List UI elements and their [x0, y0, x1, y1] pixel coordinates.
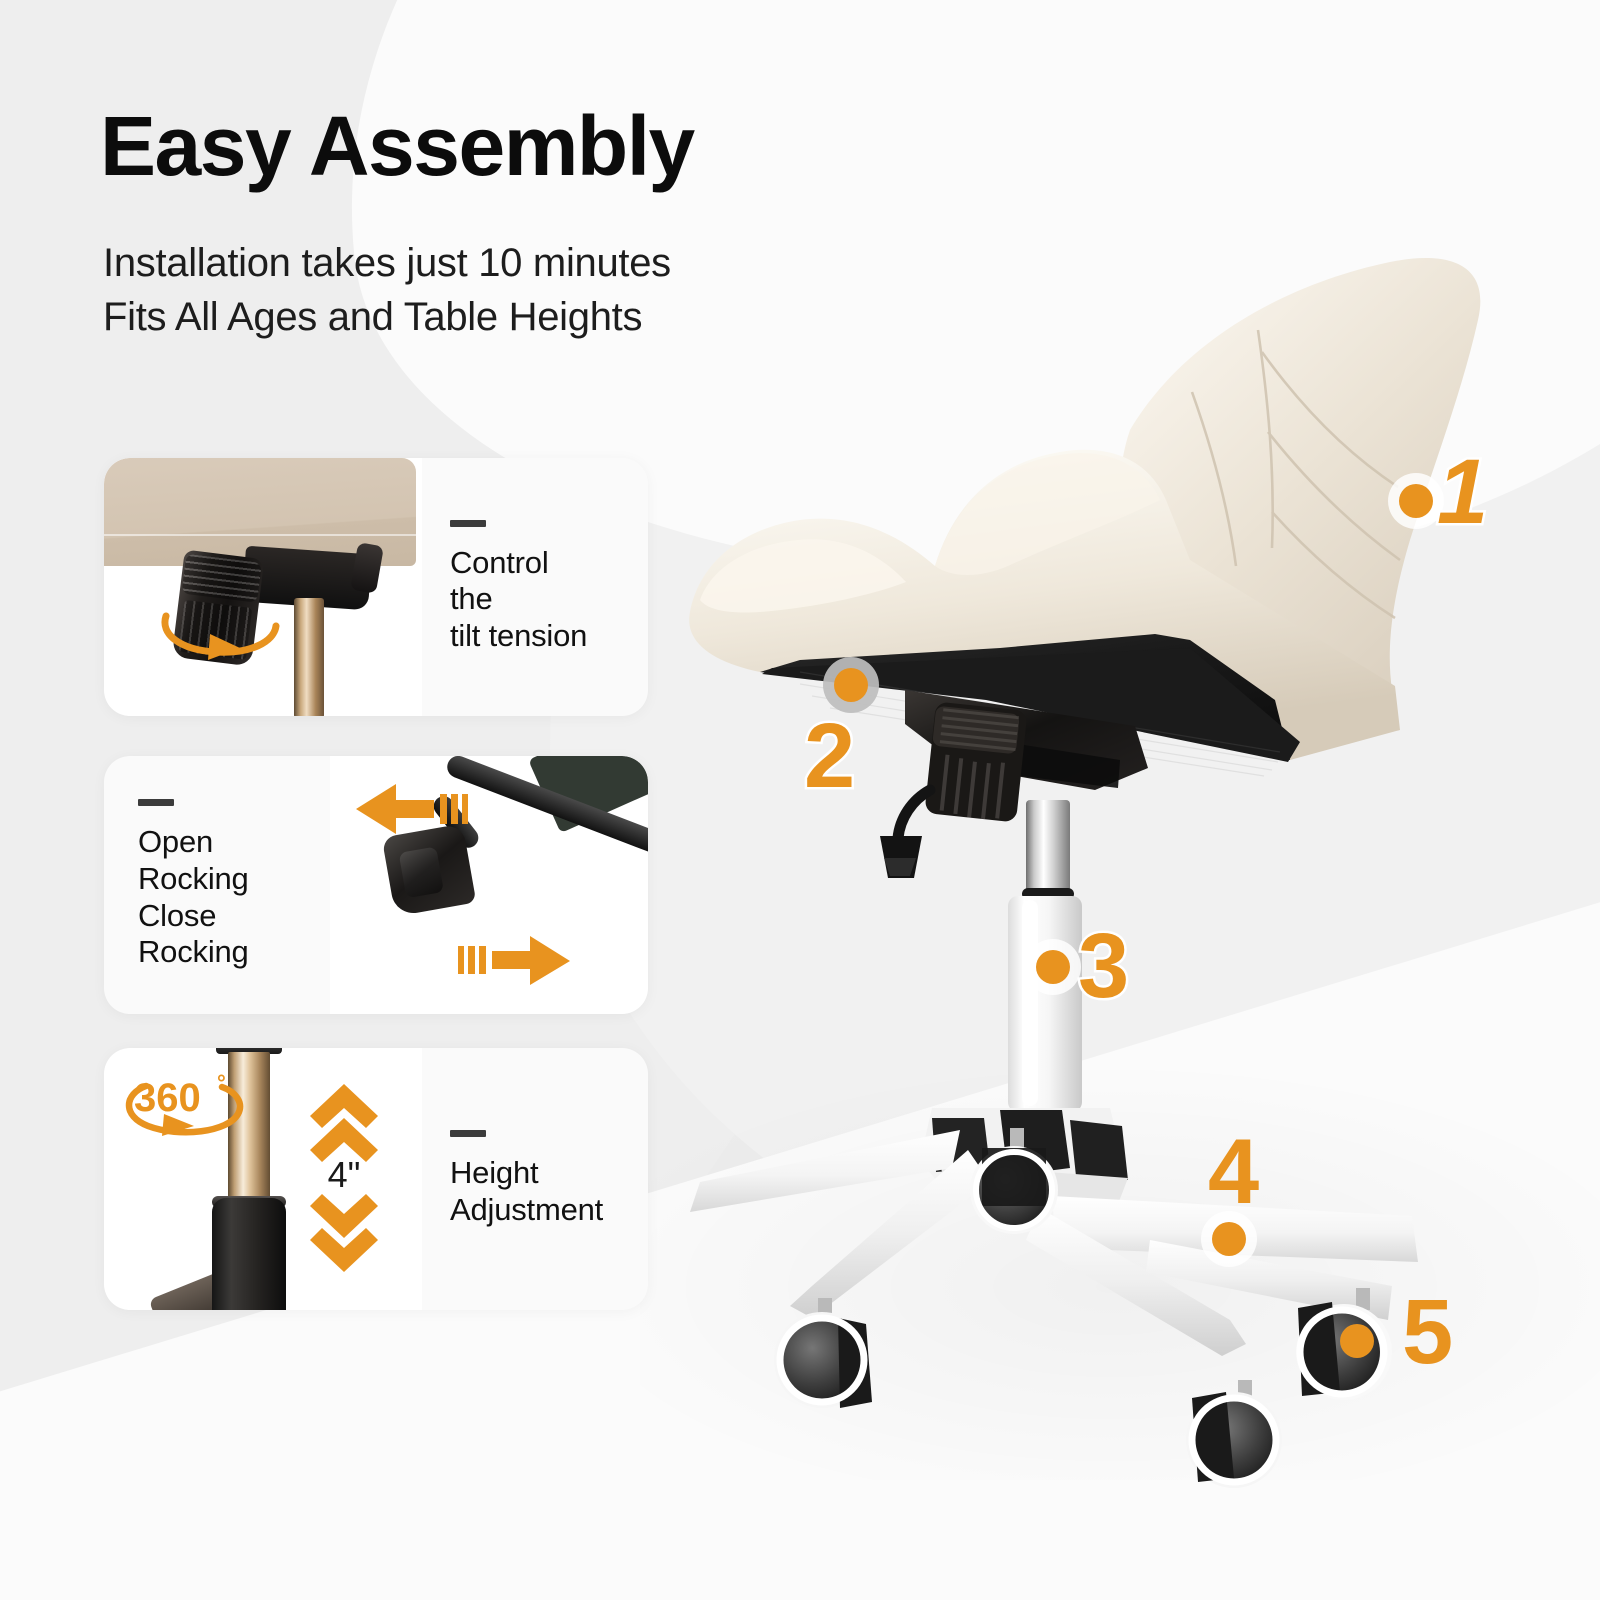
marker-2-dot: [834, 668, 868, 702]
360-degree-icon: 360 °: [120, 1064, 248, 1142]
card-height-adjustment[interactable]: 360 ° 4" Height Adjustment: [104, 1048, 648, 1310]
base-hub: [920, 1108, 1128, 1204]
tilt-mechanism-housing: [905, 690, 1148, 790]
caster-wheel-center: [970, 1128, 1058, 1234]
card-tilt-tension[interactable]: Control the tilt tension: [104, 458, 648, 716]
marker-5-dot: [1340, 1324, 1374, 1358]
base-arm-back-left: [690, 1130, 960, 1212]
five-star-base: [690, 1130, 1418, 1356]
card-tilt-tension-text: Control the tilt tension: [422, 458, 648, 716]
gas-lift-cylinder: [1008, 896, 1082, 1112]
chair-seat-and-arm: [689, 450, 1400, 760]
subtitle-line-2: Fits All Ages and Table Heights: [103, 297, 642, 337]
chair-backrest: [1120, 258, 1481, 700]
marker-3-dot: [1036, 950, 1070, 984]
svg-text:°: °: [217, 1070, 226, 1095]
marker-1-dot: [1399, 484, 1433, 518]
underside-fabric-texture: [800, 672, 1280, 776]
card-rocking-line-1: Open: [138, 824, 330, 861]
backrest-lower-fold: [1150, 640, 1392, 716]
infographic-canvas: Easy Assembly Installation takes just 10…: [0, 0, 1600, 1600]
card-height-line-1: Height: [450, 1155, 648, 1192]
marker-5-number: 5: [1402, 1286, 1451, 1378]
subtitle-line-1: Installation takes just 10 minutes: [103, 243, 671, 283]
svg-text:360: 360: [134, 1076, 201, 1120]
marker-4-dot: [1212, 1222, 1246, 1256]
caster-wheel-left: [774, 1298, 872, 1408]
background-soft-curve: [550, 60, 1600, 1310]
floor-shadow: [640, 1050, 1600, 1480]
card-rocking-line-3: Close: [138, 898, 330, 935]
card-height-text: Height Adjustment: [422, 1048, 648, 1310]
seat-back-highlight: [935, 453, 1160, 575]
mechanism-shadow: [1005, 742, 1120, 788]
card-height-line-2: Adjustment: [450, 1192, 648, 1229]
gas-lift-ring: [1022, 888, 1074, 900]
card-height-photo: 360 ° 4": [104, 1048, 422, 1310]
card-rocking[interactable]: Open Rocking Close Rocking: [104, 756, 648, 1014]
marker-1-number: 1: [1437, 446, 1486, 538]
arm-bolster-highlight: [700, 539, 906, 612]
card-tilt-tension-line-1: Control: [450, 545, 648, 582]
card-dash-3: [450, 1130, 486, 1137]
card-dash-1: [450, 520, 486, 527]
marker-4-number: 4: [1208, 1126, 1257, 1218]
card-tilt-tension-line-2: the: [450, 581, 648, 618]
page-title: Easy Assembly: [100, 104, 694, 188]
marker-3-number: 3: [1078, 920, 1127, 1012]
card-rocking-photo: [330, 756, 648, 1014]
card-dash-2: [138, 799, 174, 806]
card-rocking-line-2: Rocking: [138, 861, 330, 898]
card-tilt-tension-line-3: tilt tension: [450, 618, 648, 655]
height-travel-label: 4": [304, 1154, 384, 1196]
arrow-left-icon: [350, 778, 468, 840]
card-rocking-text: Open Rocking Close Rocking: [104, 756, 330, 1014]
gas-lift-chrome-shaft: [1026, 800, 1070, 892]
caster-wheel-front: [1186, 1380, 1282, 1488]
gas-lift-highlight: [1022, 900, 1038, 1106]
base-arm-left-front: [790, 1150, 990, 1318]
arrow-right-icon: [458, 932, 576, 990]
gas-cylinder-body: [212, 1198, 286, 1310]
card-tilt-tension-photo: [104, 458, 422, 716]
marker-2-number: 2: [804, 710, 853, 802]
rocking-lever: [880, 790, 930, 878]
tilt-tension-knob: [924, 701, 1027, 822]
column-shaft: [294, 598, 324, 716]
card-rocking-line-4: Rocking: [138, 934, 330, 971]
base-arm-far-right: [1146, 1240, 1392, 1320]
rotate-arrow-icon: [154, 586, 284, 660]
backrest-stitching: [1192, 330, 1400, 618]
